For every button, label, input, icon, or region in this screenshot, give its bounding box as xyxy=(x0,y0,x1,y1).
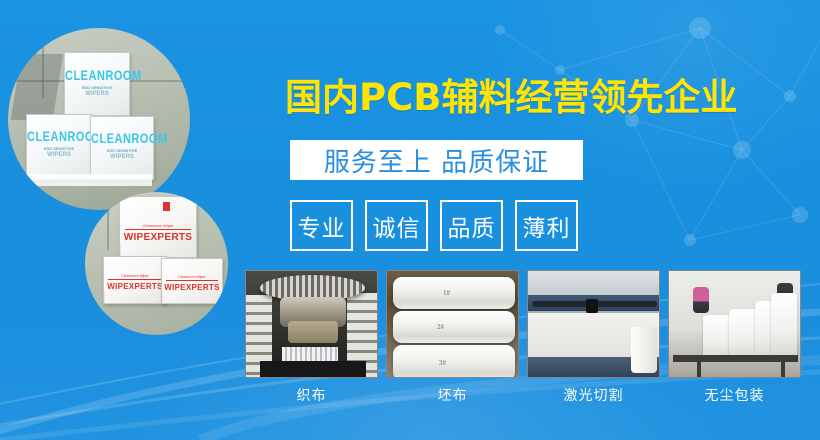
pack-brand-label: CLEANROOM xyxy=(65,69,129,84)
process-item-weaving: 织布 xyxy=(245,270,378,405)
pack-top-label: Cleanroom Wiper xyxy=(104,274,166,278)
headline: 国内PCB辅料经营领先企业 xyxy=(285,76,775,120)
fabric-rolls-photo: 1# 2# 3# xyxy=(386,270,519,378)
process-caption: 坯布 xyxy=(386,385,519,405)
product-photo-cleanroom: CLEANROOM ESD SENSITIVE WIPERS CLEANROOM… xyxy=(8,28,190,210)
tag-item: 诚信 xyxy=(365,200,428,251)
pack-top-label: Cleanroom Wiper xyxy=(120,223,196,228)
tag-item: 薄利 xyxy=(515,200,578,251)
process-caption: 织布 xyxy=(245,385,378,405)
pack-brand-label: WIPEXPERTS xyxy=(120,232,196,243)
subtitle-text: 服务至上 品质保证 xyxy=(324,142,549,179)
pack-sub-label: ESD SENSITIVE xyxy=(27,146,91,151)
pack-brand-label: WIPEXPERTS xyxy=(162,283,222,292)
knitting-machine-photo xyxy=(245,270,378,378)
tag-item: 专业 xyxy=(290,200,353,251)
process-caption: 无尘包装 xyxy=(668,385,801,405)
process-photo-strip: 织布 1# 2# 3# 坯布 xyxy=(245,270,801,405)
process-item-laser-cutting: 激光切割 xyxy=(527,270,660,405)
pack-brand-label: WIPEXPERTS xyxy=(104,282,166,291)
tag-item: 品质 xyxy=(440,200,503,251)
pack-sub2-label: WIPERS xyxy=(65,91,129,97)
pack-sub2-label: WIPERS xyxy=(27,152,91,158)
subtitle-box: 服务至上 品质保证 xyxy=(290,140,583,180)
process-item-cleanroom-packaging: 无尘包装 xyxy=(668,270,801,405)
pack-sub-label: ESD SENSITIVE xyxy=(91,148,153,153)
pack-sub2-label: WIPERS xyxy=(91,154,153,160)
process-item-greige-fabric: 1# 2# 3# 坯布 xyxy=(386,270,519,405)
promo-banner: CLEANROOM ESD SENSITIVE WIPERS CLEANROOM… xyxy=(0,0,820,440)
pack-brand-label: CLEANROOM xyxy=(91,132,153,147)
pack-top-label: Cleanroom Wiper xyxy=(162,275,222,279)
pack-sub-label: ESD SENSITIVE xyxy=(65,85,129,90)
process-caption: 激光切割 xyxy=(527,385,660,405)
laser-cutter-photo xyxy=(527,270,660,378)
product-photo-wipexperts: Cleanroom Wiper WIPEXPERTS Cleanroom Wip… xyxy=(85,192,228,335)
packaging-photo xyxy=(668,270,801,378)
pack-brand-label: CLEANROOM xyxy=(27,130,91,145)
tag-list: 专业 诚信 品质 薄利 xyxy=(290,200,578,251)
